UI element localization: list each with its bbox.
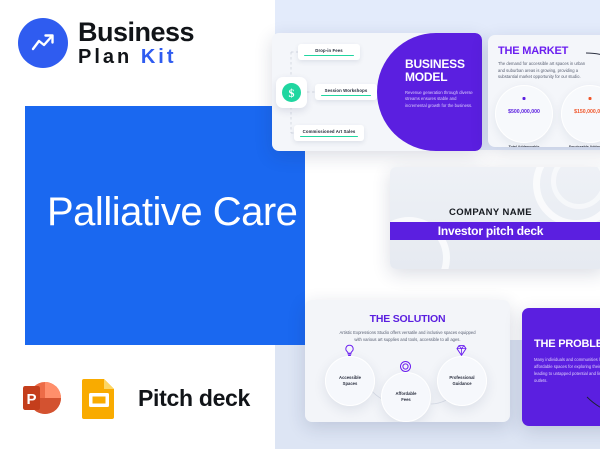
solution-pillar-2[interactable]: Affordable Fees bbox=[381, 372, 431, 422]
brand-name-line2: Plan Kit bbox=[78, 47, 194, 67]
growth-arrow-icon bbox=[18, 18, 68, 68]
market-title: THE MARKET bbox=[498, 45, 568, 57]
svg-text:P: P bbox=[26, 391, 36, 408]
solution-pillars: Accessible Spaces Affordable Fees Profes… bbox=[305, 350, 510, 420]
brand-logo: Business Plan Kit bbox=[18, 18, 194, 68]
curved-arrow-icon bbox=[586, 396, 600, 418]
business-model-item-1[interactable]: Drop-in Fees bbox=[298, 44, 360, 60]
underline-accent bbox=[321, 95, 371, 96]
google-slides-icon bbox=[76, 375, 122, 421]
market-stat-tam[interactable]: $500,000,000 Total Addressable Market (T… bbox=[495, 85, 553, 143]
stat-dot-icon bbox=[589, 97, 592, 100]
slide-problem[interactable]: THE PROBLEM Many individuals and communi… bbox=[522, 308, 600, 426]
underline-accent bbox=[300, 136, 358, 137]
target-circle-icon bbox=[399, 360, 412, 373]
market-stat-sam-value: $150,000,000 bbox=[561, 109, 600, 115]
business-model-body: Revenue generation through diverse strea… bbox=[405, 90, 474, 110]
problem-body: Many individuals and communities lack ac… bbox=[534, 356, 600, 385]
underline-accent bbox=[304, 55, 354, 56]
curved-arrow-icon bbox=[584, 49, 600, 79]
solution-pillar-3[interactable]: Professional Guidance bbox=[437, 356, 487, 406]
market-stat-tam-label: Total Addressable Market (TAM) bbox=[493, 145, 555, 147]
format-badges: P Pitch deck bbox=[18, 375, 250, 421]
business-model-item-3[interactable]: Commissioned Art Sales bbox=[294, 125, 364, 141]
dollar-coin-icon: $ bbox=[276, 77, 307, 108]
brand-wordmark: Business Plan Kit bbox=[78, 19, 194, 67]
business-model-title: BUSINESS MODEL bbox=[405, 58, 474, 85]
dollar-symbol: $ bbox=[282, 83, 301, 102]
market-stat-sam-label: Serviceable Addressable Market (SAM) bbox=[559, 145, 600, 147]
poster-canvas: Business Plan Kit Palliative Care P bbox=[0, 0, 600, 449]
market-stats: $500,000,000 Total Addressable Market (T… bbox=[495, 85, 600, 143]
solution-body: Artistic Expressions Studio offers versa… bbox=[337, 330, 478, 344]
diamond-icon bbox=[455, 344, 468, 357]
investor-pitch-bar: Investor pitch deck bbox=[390, 222, 600, 240]
format-label: Pitch deck bbox=[138, 385, 250, 412]
solution-pillar-1-label: Accessible Spaces bbox=[339, 375, 361, 388]
slide-business-model[interactable]: $ Drop-in Fees Session Workshops Commiss… bbox=[272, 33, 482, 151]
company-name-text: COMPANY NAME bbox=[390, 207, 591, 218]
slide-market[interactable]: THE MARKET The demand for accessible art… bbox=[488, 35, 600, 147]
solution-pillar-3-label: Professional Guidance bbox=[449, 375, 474, 388]
solution-pillar-1[interactable]: Accessible Spaces bbox=[325, 356, 375, 406]
stat-dot-icon bbox=[523, 97, 526, 100]
brand-name-line1: Business bbox=[78, 19, 194, 46]
brand-name-plan: Plan bbox=[78, 46, 132, 68]
business-model-item-3-label: Commissioned Art Sales bbox=[300, 129, 358, 134]
hero-title: Palliative Care bbox=[47, 190, 297, 235]
market-stat-tam-value: $500,000,000 bbox=[495, 109, 553, 115]
solution-title: THE SOLUTION bbox=[305, 313, 510, 325]
business-model-item-1-label: Drop-in Fees bbox=[304, 48, 354, 53]
slide-company-name[interactable]: COMPANY NAME Investor pitch deck bbox=[390, 167, 600, 269]
market-body: The demand for accessible art spaces in … bbox=[498, 61, 590, 81]
market-stat-sam[interactable]: $150,000,000 Serviceable Addressable Mar… bbox=[561, 85, 600, 143]
slide-solution[interactable]: THE SOLUTION Artistic Expressions Studio… bbox=[305, 300, 510, 422]
solution-pillar-2-label: Affordable Fees bbox=[396, 391, 417, 404]
business-model-item-2[interactable]: Session Workshops bbox=[315, 84, 377, 100]
investor-pitch-text: Investor pitch deck bbox=[438, 224, 558, 238]
powerpoint-icon: P bbox=[18, 375, 64, 421]
business-model-item-2-label: Session Workshops bbox=[321, 88, 371, 93]
lightbulb-icon bbox=[343, 344, 356, 357]
problem-title: THE PROBLEM bbox=[534, 338, 600, 350]
brand-name-kit: Kit bbox=[141, 46, 177, 68]
